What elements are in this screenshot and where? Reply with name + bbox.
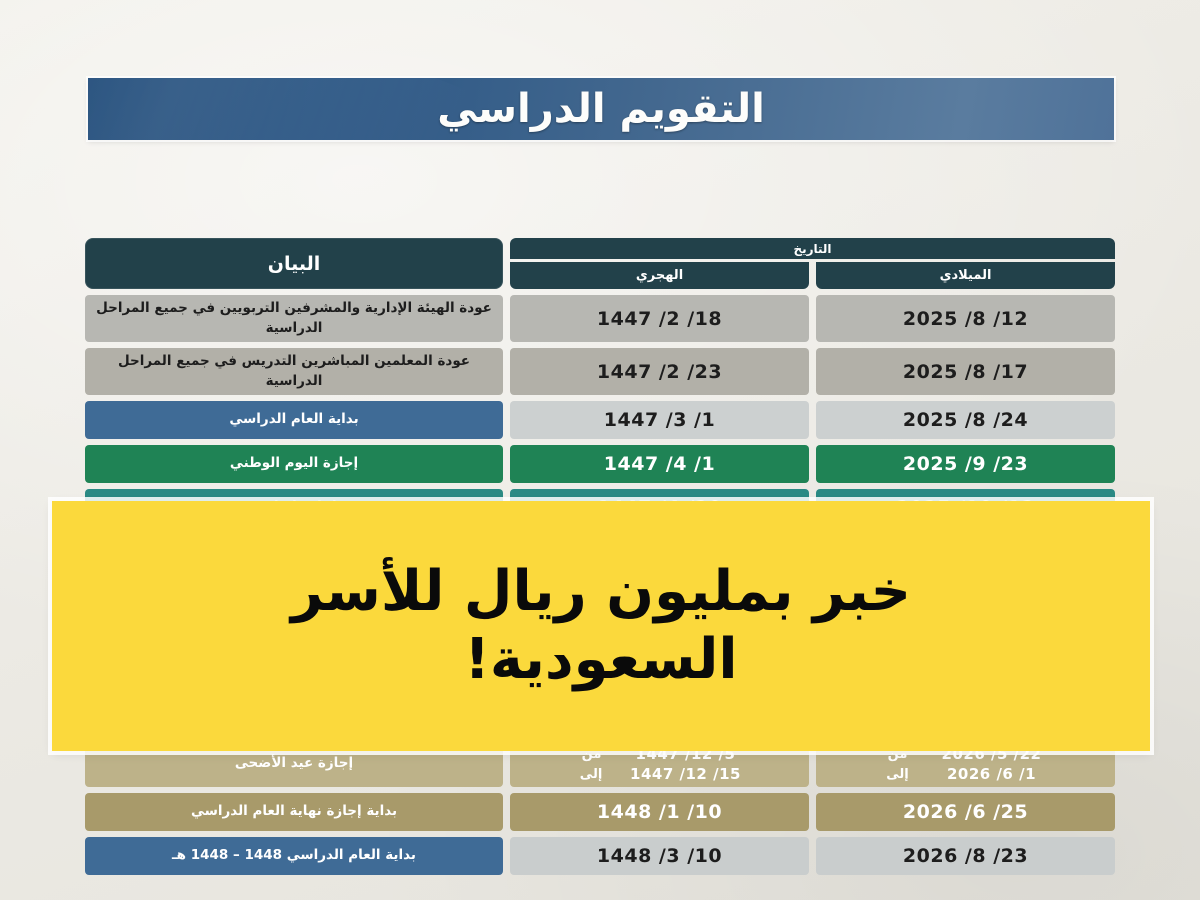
row-description: عودة المعلمين المباشرين التدريس في جميع … — [85, 348, 503, 395]
row-description: بداية العام الدراسي — [85, 401, 503, 439]
row-description: بداية إجازة نهاية العام الدراسي — [85, 793, 503, 831]
row-greg-date: 2025 /8 /24 — [816, 401, 1115, 439]
row-greg-date: 2025 /8 /17 — [816, 348, 1115, 395]
table-row: بداية إجازة نهاية العام الدراسي1448 /1 /… — [85, 793, 1115, 831]
range-date-to: 2026 /6 /1 — [937, 765, 1047, 783]
row-greg-date: 2025 /8 /12 — [816, 295, 1115, 342]
table-row: عودة المعلمين المباشرين التدريس في جميع … — [85, 348, 1115, 395]
table-row: بداية العام الدراسي1447 /3 /12025 /8 /24 — [85, 401, 1115, 439]
row-hijri-date: 1447 /2 /18 — [510, 295, 809, 342]
overlay-banner: خبر بمليون ريال للأسر السعودية! — [52, 501, 1150, 751]
row-hijri-date: 1447 /4 /1 — [510, 445, 809, 483]
row-description: بداية العام الدراسي 1448 – 1448 هـ — [85, 837, 503, 875]
header-date-group: التاريخ الهجري الميلادي — [510, 238, 1115, 289]
range-date-to: 1447 /12 /15 — [630, 765, 741, 783]
row-greg-date: 2025 /9 /23 — [816, 445, 1115, 483]
row-greg-date: 2026 /6 /25 — [816, 793, 1115, 831]
row-description: عودة الهيئة الإدارية والمشرفين التربويين… — [85, 295, 503, 342]
overlay-headline: خبر بمليون ريال للأسر السعودية! — [171, 558, 1031, 695]
title-banner: التقويم الدراسي — [88, 78, 1114, 140]
row-hijri-date: 1447 /3 /1 — [510, 401, 809, 439]
table-row: عودة الهيئة الإدارية والمشرفين التربويين… — [85, 295, 1115, 342]
header-date-label: التاريخ — [510, 238, 1115, 259]
header-date-subcolumns: الهجري الميلادي — [510, 262, 1115, 289]
range-label-to: إلى — [885, 767, 911, 782]
row-hijri-date: 1447 /2 /23 — [510, 348, 809, 395]
table-row: إجازة اليوم الوطني1447 /4 /12025 /9 /23 — [85, 445, 1115, 483]
table-header-row: البيان التاريخ الهجري الميلادي — [85, 238, 1115, 289]
row-description: إجازة اليوم الوطني — [85, 445, 503, 483]
header-description: البيان — [85, 238, 503, 289]
row-hijri-date: 1448 /3 /10 — [510, 837, 809, 875]
row-greg-date: 2026 /8 /23 — [816, 837, 1115, 875]
header-hijri: الهجري — [510, 262, 809, 289]
table-row: بداية العام الدراسي 1448 – 1448 هـ1448 /… — [85, 837, 1115, 875]
row-hijri-date: 1448 /1 /10 — [510, 793, 809, 831]
page-title: التقويم الدراسي — [437, 86, 765, 132]
header-gregorian: الميلادي — [816, 262, 1115, 289]
range-label-to: إلى — [578, 767, 604, 782]
